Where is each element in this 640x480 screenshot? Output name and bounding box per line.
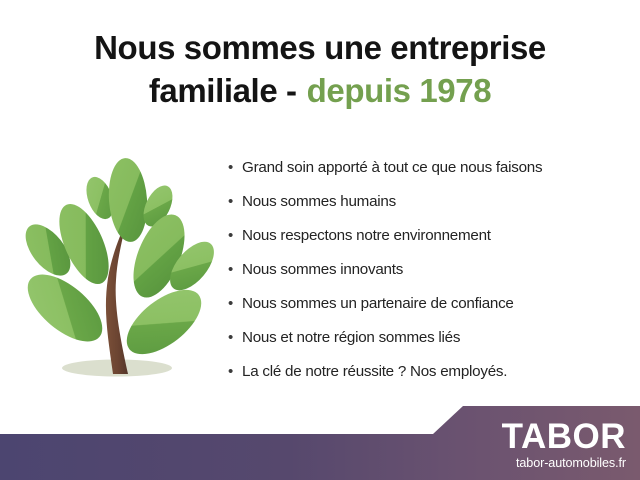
list-item-label: Nous sommes innovants <box>242 261 403 278</box>
page-title: Nous sommes une entreprise familiale -de… <box>0 26 640 112</box>
brand-website: tabor-automobiles.fr <box>502 457 626 470</box>
slide-canvas: Nous sommes une entreprise familiale -de… <box>0 0 640 480</box>
list-item-label: Grand soin apporté à tout ce que nous fa… <box>242 159 542 176</box>
bullet-icon: • <box>228 296 242 311</box>
list-item-label: Nous et notre région sommes liés <box>242 329 460 346</box>
list-item: • Nous sommes un partenaire de confiance <box>228 286 640 320</box>
list-item: • Nous sommes innovants <box>228 252 640 286</box>
footer-band: TABOR tabor-automobiles.fr <box>0 400 640 480</box>
list-item-label: Nous respectons notre environnement <box>242 227 491 244</box>
headline-line-2: familiale -depuis 1978 <box>0 69 640 112</box>
bullet-icon: • <box>228 194 242 209</box>
list-item-label: Nous sommes humains <box>242 193 396 210</box>
bullet-icon: • <box>228 160 242 175</box>
list-item: • Nous et notre région sommes liés <box>228 320 640 354</box>
headline-accent-year: depuis 1978 <box>307 72 492 109</box>
list-item: • Grand soin apporté à tout ce que nous … <box>228 150 640 184</box>
headline-line-1: Nous sommes une entreprise <box>0 26 640 69</box>
values-list: • Grand soin apporté à tout ce que nous … <box>228 150 640 388</box>
bullet-icon: • <box>228 228 242 243</box>
headline-line-2-plain: familiale - <box>149 72 297 109</box>
list-item-label: La clé de notre réussite ? Nos employés. <box>242 363 507 380</box>
tree-illustration <box>12 152 222 388</box>
list-item: • La clé de notre réussite ? Nos employé… <box>228 354 640 388</box>
tree-icon <box>12 152 222 388</box>
tree-trunk <box>106 222 128 374</box>
bullet-icon: • <box>228 330 242 345</box>
bullet-icon: • <box>228 364 242 379</box>
brand-logo[interactable]: TABOR tabor-automobiles.fr <box>502 420 626 470</box>
list-item: • Nous sommes humains <box>228 184 640 218</box>
list-item: • Nous respectons notre environnement <box>228 218 640 252</box>
list-item-label: Nous sommes un partenaire de confiance <box>242 295 514 312</box>
bullet-icon: • <box>228 262 242 277</box>
brand-wordmark: TABOR <box>502 420 626 454</box>
